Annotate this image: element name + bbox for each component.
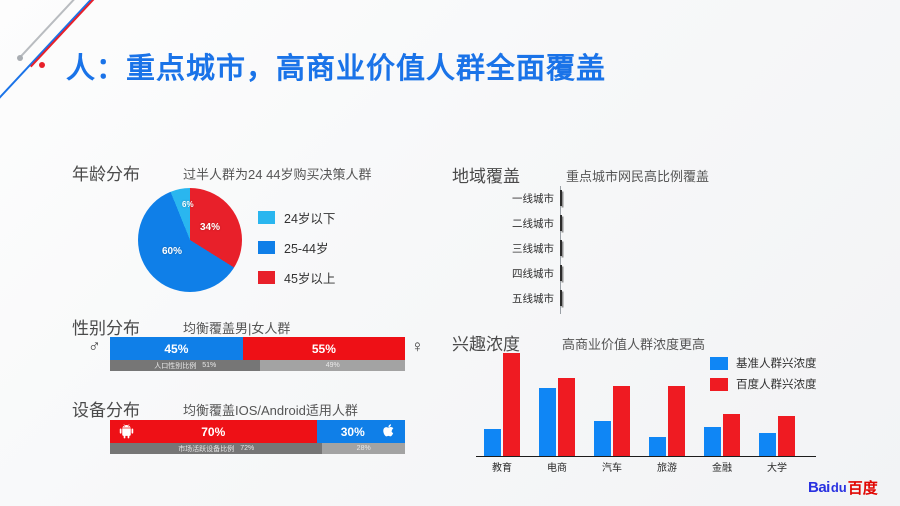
legend-item: 45岁以上: [258, 268, 335, 287]
interest-category-label: 电商: [534, 459, 580, 474]
interest-plot-area: 基准人群兴浓度 百度人群兴浓度: [476, 352, 816, 457]
gender-ref-right-value: 49%: [260, 360, 405, 371]
bar-group: [594, 386, 630, 456]
legend-item: 百度人群兴浓度: [710, 376, 817, 392]
legend-item: 基准人群兴浓度: [710, 355, 817, 371]
device-reference-bar: 市场活跃设备比例 72% 28%: [110, 443, 405, 454]
gender-reference-bar: 人口性别比例 51% 49%: [110, 360, 405, 371]
interest-category-label: 旅游: [644, 459, 690, 474]
legend-label-over45: 45岁以上: [284, 268, 335, 287]
device-main-bar: 70% 30%: [110, 420, 405, 443]
bar-base: [704, 427, 721, 456]
bar-group: [539, 378, 575, 456]
female-icon: ♀: [411, 337, 424, 357]
legend-label-baidu: 百度人群兴浓度: [736, 376, 817, 392]
gender-male-segment: 45%: [110, 337, 243, 360]
bar-group: [484, 353, 520, 456]
region-bar: [560, 290, 562, 306]
section-subtitle-device: 均衡覆盖IOS/Android适用人群: [183, 400, 358, 419]
legend-swatch-over45: [258, 271, 275, 284]
region-bar: [560, 240, 562, 256]
gender-ref-text: 人口性别比例: [154, 361, 196, 371]
gender-female-segment: 55%: [243, 337, 405, 360]
legend-swatch-base: [710, 357, 728, 370]
legend-swatch-under24: [258, 211, 275, 224]
age-legend: 24岁以下 25-44岁 45岁以上: [258, 208, 335, 298]
device-android-label: 70%: [201, 425, 225, 439]
section-title-device: 设备分布: [72, 396, 140, 421]
interest-bar-chart: 基准人群兴浓度 百度人群兴浓度 教育 电商 汽车 旅游 金融 大学: [476, 352, 816, 474]
section-subtitle-age: 过半人群为24 44岁购买决策人群: [183, 164, 372, 183]
pie-label-25to44: 60%: [162, 246, 182, 257]
legend-label-25to44: 25-44岁: [284, 238, 328, 257]
section-subtitle-gender: 均衡覆盖男|女人群: [183, 318, 290, 337]
baidu-logo: Bai du 百度: [808, 477, 878, 498]
baidu-logo-cn: 百度: [848, 477, 878, 498]
gender-ref-left: 人口性别比例 51%: [110, 360, 260, 371]
decoration-dot-red: [39, 62, 45, 68]
region-category-label: 三线城市: [512, 241, 554, 256]
bar-base: [484, 429, 501, 456]
legend-item: 24岁以下: [258, 208, 335, 227]
device-ios-segment: 30%: [317, 420, 406, 443]
bar-baidu: [613, 386, 630, 456]
bar-baidu: [778, 416, 795, 456]
region-category-label: 一线城市: [512, 191, 554, 206]
device-ios-label: 30%: [341, 425, 365, 439]
android-icon: [118, 422, 135, 444]
bar-group: [649, 386, 685, 456]
bar-group: [704, 414, 740, 456]
pie-label-over45: 34%: [200, 222, 220, 233]
region-category-label: 五线城市: [512, 291, 554, 306]
section-subtitle-region: 重点城市网民高比例覆盖: [566, 166, 709, 185]
gender-main-bar: 45% 55%: [110, 337, 405, 360]
section-subtitle-interest: 高商业价值人群浓度更高: [562, 334, 705, 353]
slide-canvas: 人：重点城市，高商业价值人群全面覆盖 年龄分布 过半人群为24 44岁购买决策人…: [0, 0, 900, 506]
region-category-label: 四线城市: [512, 266, 554, 281]
baidu-logo-en: Bai: [808, 479, 830, 496]
page-title: 人：重点城市，高商业价值人群全面覆盖: [66, 45, 606, 87]
bar-base: [649, 437, 666, 456]
interest-category-label: 大学: [754, 459, 800, 474]
legend-swatch-baidu: [710, 378, 728, 391]
table-row: 三线城市: [560, 240, 562, 256]
bar-baidu: [723, 414, 740, 456]
device-ref-right-value: 28%: [322, 443, 405, 454]
device-ref-left: 市场活跃设备比例 72%: [110, 443, 322, 454]
gender-distribution-bar: 45% 55% 人口性别比例 51% 49%: [110, 337, 405, 371]
male-icon: ♂: [88, 337, 101, 357]
device-ref-left-value: 72%: [240, 445, 254, 452]
bar-base: [594, 421, 611, 456]
age-pie-chart: 6% 60% 34%: [138, 188, 242, 292]
region-category-label: 二线城市: [512, 216, 554, 231]
interest-category-label: 汽车: [589, 459, 635, 474]
table-row: 二线城市: [560, 215, 562, 231]
region-bar: [560, 265, 562, 281]
legend-item: 25-44岁: [258, 238, 335, 257]
interest-category-label: 金融: [699, 459, 745, 474]
bar-base: [759, 433, 776, 456]
region-bar-chart: 一线城市 二线城市 三线城市 四线城市 五线城市: [560, 186, 860, 314]
region-bar: [560, 215, 562, 231]
section-title-gender: 性别分布: [72, 314, 140, 339]
legend-swatch-25to44: [258, 241, 275, 254]
legend-label-base: 基准人群兴浓度: [736, 355, 817, 371]
bar-baidu: [503, 353, 520, 456]
legend-label-under24: 24岁以下: [284, 208, 335, 227]
device-android-segment: 70%: [110, 420, 317, 443]
device-ref-text: 市场活跃设备比例: [178, 444, 234, 454]
table-row: 一线城市: [560, 190, 562, 206]
interest-axis-line: [476, 456, 816, 458]
paw-icon: du: [831, 480, 847, 495]
table-row: 四线城市: [560, 265, 562, 281]
interest-category-label: 教育: [479, 459, 525, 474]
section-title-region: 地域覆盖: [452, 162, 520, 187]
pie-label-under24: 6%: [182, 200, 194, 209]
device-distribution-bar: 70% 30% 市场活跃设备比例 72% 28%: [110, 420, 405, 454]
bar-baidu: [668, 386, 685, 456]
interest-legend: 基准人群兴浓度 百度人群兴浓度: [710, 355, 817, 397]
bar-group: [759, 416, 795, 456]
region-bar: [560, 190, 562, 206]
decoration-dot-gray: [17, 55, 23, 61]
section-title-age: 年龄分布: [72, 160, 140, 185]
apple-icon: [381, 422, 397, 444]
gender-ref-left-value: 51%: [202, 362, 216, 369]
bar-baidu: [558, 378, 575, 456]
table-row: 五线城市: [560, 290, 562, 306]
bar-base: [539, 388, 556, 456]
